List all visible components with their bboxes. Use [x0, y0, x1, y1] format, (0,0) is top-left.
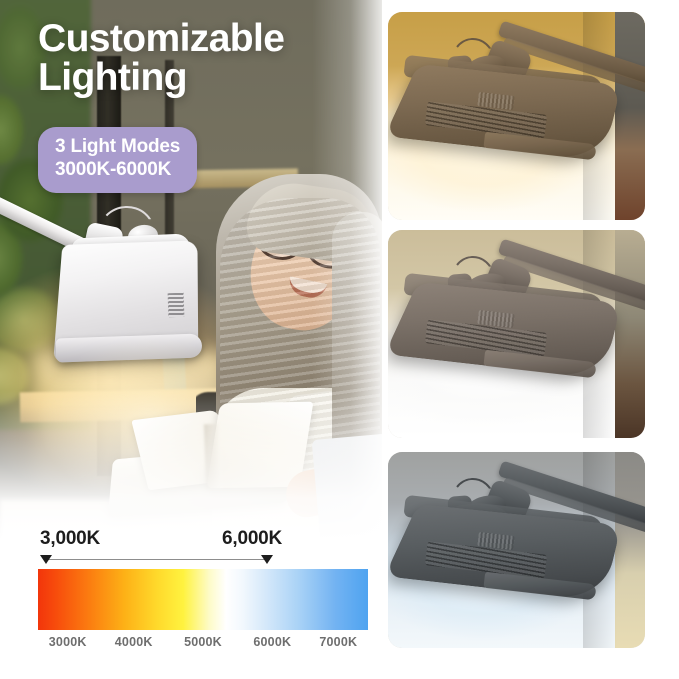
tick-label-4: 7000K: [319, 635, 357, 649]
panel-lamp-cool: [388, 452, 645, 648]
color-temperature-gradient-bar: [38, 569, 368, 630]
range-connector-line: [46, 559, 270, 560]
tick-label-1: 4000K: [115, 635, 153, 649]
product-feature-image: Customizable Lighting 3 Light Modes 3000…: [0, 0, 679, 679]
tick-label-0: 3000K: [49, 635, 87, 649]
range-high-marker-icon: [261, 555, 273, 564]
range-low-label: 3,000K: [40, 528, 100, 550]
scale-tick-labels: 3000K 4000K 5000K 6000K 7000K: [38, 635, 368, 655]
range-high-label: 6,000K: [222, 528, 282, 550]
hero-bottom-fade: [0, 390, 382, 540]
headline-line-2: Lighting: [38, 59, 368, 98]
light-modes-badge: 3 Light Modes 3000K-6000K: [38, 127, 197, 193]
page-title: Customizable Lighting: [38, 20, 368, 97]
badge-line-1: 3 Light Modes: [55, 136, 180, 159]
tick-label-3: 6000K: [253, 635, 291, 649]
light-mode-panel-warm: [388, 12, 645, 220]
color-temperature-scale: 3,000K 6,000K 3000K 4000K 5000K 6000K 70…: [0, 528, 382, 679]
headline-line-1: Customizable: [38, 17, 284, 60]
range-low-marker-icon: [40, 555, 52, 564]
panel-lamp-warm: [388, 12, 645, 220]
tick-label-2: 5000K: [184, 635, 222, 649]
panel-lamp-neutral: [388, 230, 645, 438]
light-mode-panel-neutral: [388, 230, 645, 438]
light-mode-panel-cool: [388, 452, 645, 648]
badge-line-2: 3000K-6000K: [55, 159, 180, 182]
